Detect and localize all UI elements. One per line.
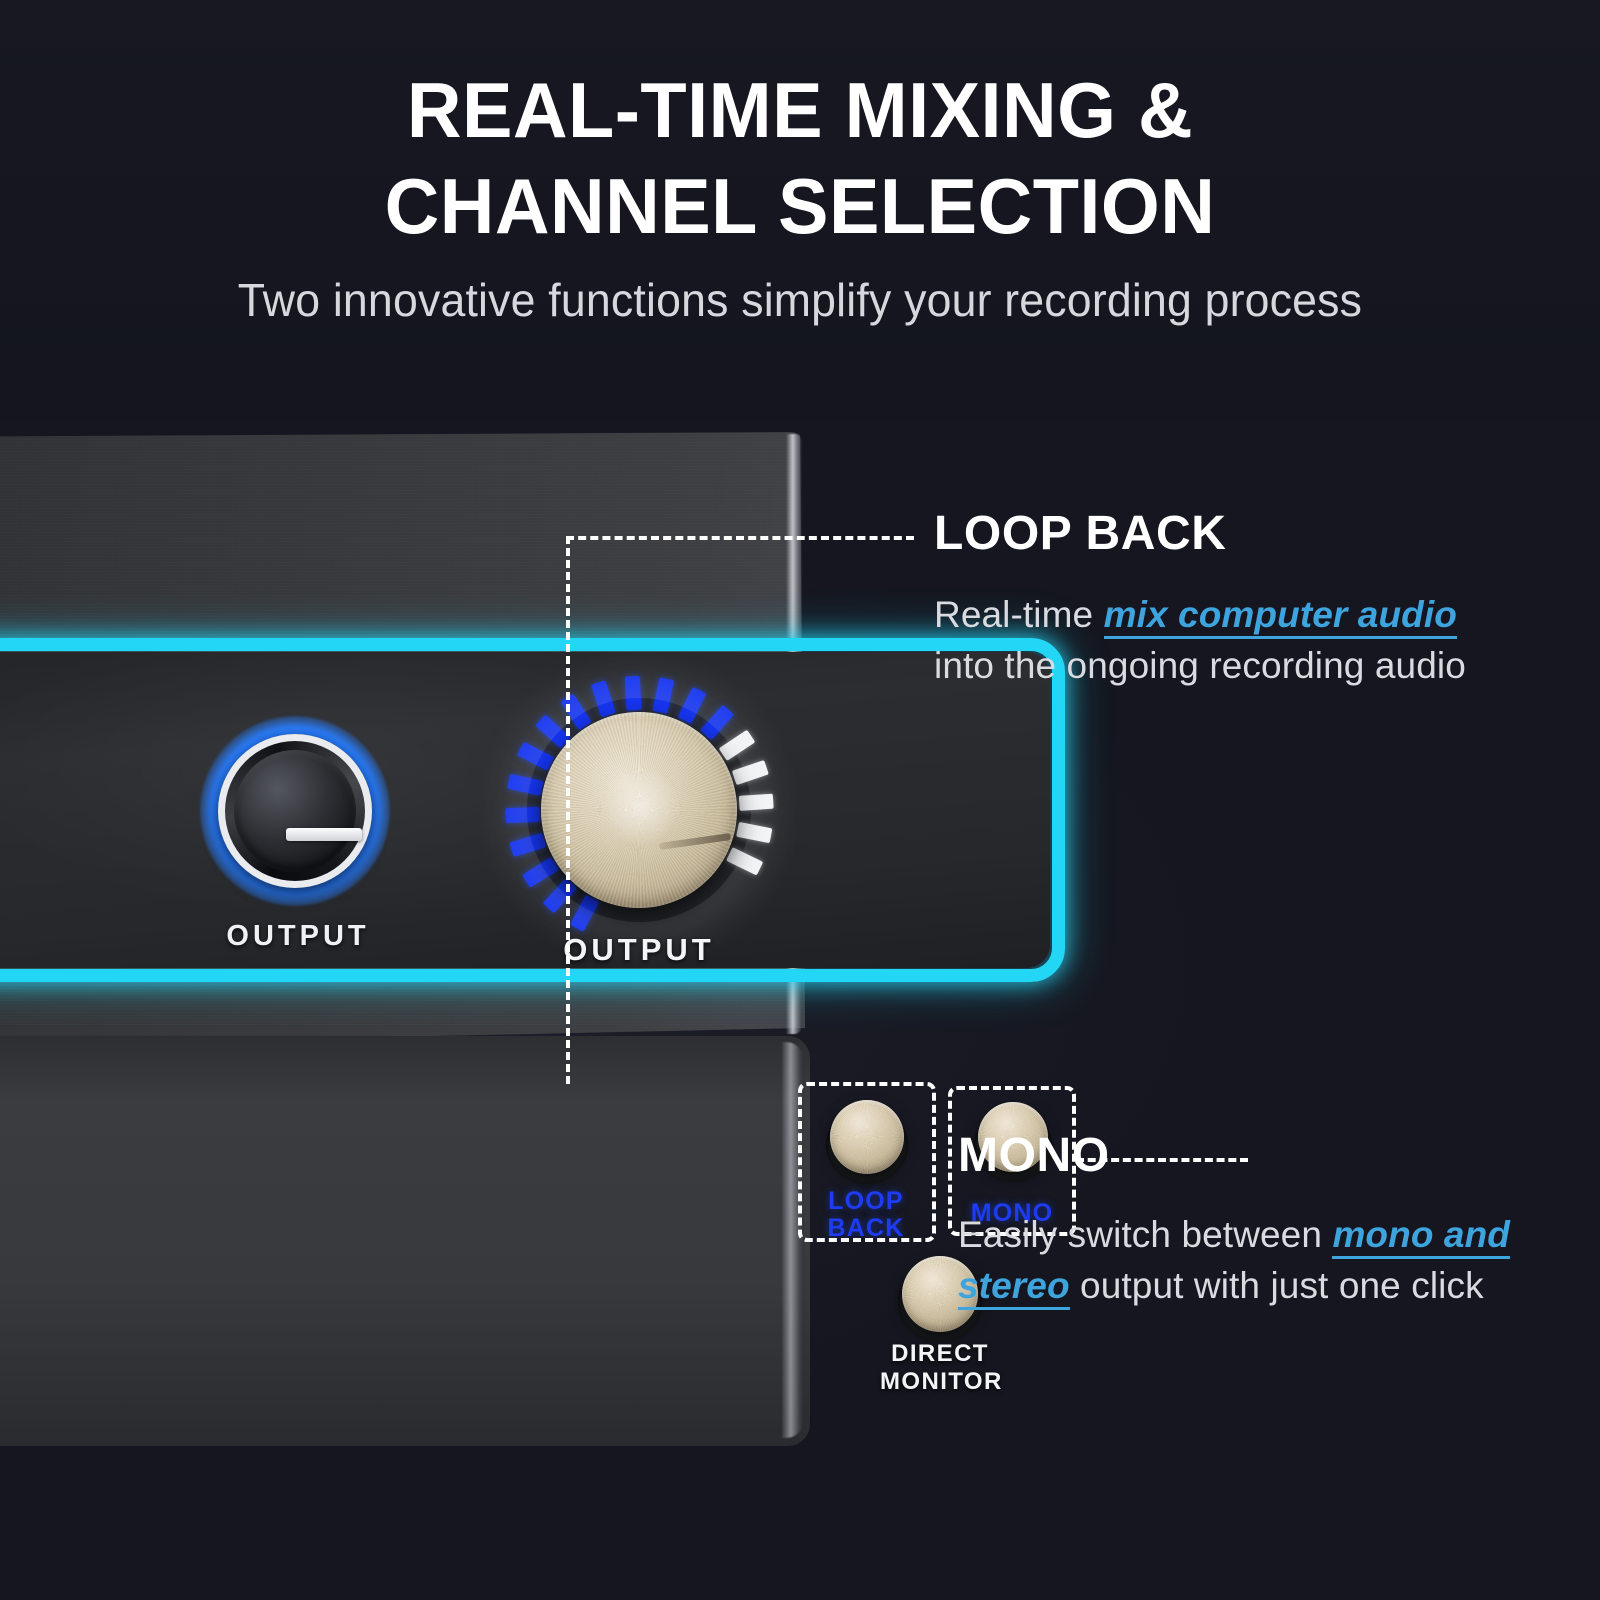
header-band: REAL-TIME MIXING & CHANNEL SELECTION Two… (0, 0, 1600, 420)
marketing-slide: REAL-TIME MIXING & CHANNEL SELECTION Two… (0, 0, 1600, 1600)
page-title: REAL-TIME MIXING & CHANNEL SELECTION (24, 62, 1576, 254)
output-knob-cap (541, 712, 737, 908)
headline-line-1: REAL-TIME MIXING & (24, 62, 1576, 158)
callout-loopback-title: LOOP BACK (934, 506, 1494, 561)
direct-monitor-label: DIRECT MONITOR (880, 1340, 1000, 1396)
callout-mono-text-pre: Easily switch between (958, 1214, 1332, 1255)
page-subtitle: Two innovative functions simplify your r… (24, 272, 1576, 328)
callout-mono-title: MONO (958, 1128, 1538, 1183)
left-knob-pointer (286, 828, 362, 841)
callout-loopback: LOOP BACK Real-time mix computer audio i… (934, 506, 1494, 691)
callout-loopback-highlight: mix computer audio (1104, 594, 1457, 639)
device-front-panel (0, 1036, 810, 1446)
loopback-leader-line-horizontal (566, 536, 914, 540)
loopback-highlight-box (798, 1082, 936, 1242)
loopback-leader-line-vertical (566, 536, 570, 1084)
callout-mono: MONO Easily switch between mono and ster… (958, 1128, 1538, 1311)
left-knob-face (234, 750, 356, 872)
headline-line-2: CHANNEL SELECTION (24, 158, 1576, 254)
main-knob-label: OUTPUT (505, 932, 773, 968)
callout-loopback-body: Real-time mix computer audio into the on… (934, 589, 1494, 691)
callout-loopback-text-pre: Real-time (934, 594, 1104, 635)
callout-loopback-text-post: into the ongoing recording audio (934, 645, 1466, 686)
output-knob-indicator (659, 833, 731, 850)
callout-mono-body: Easily switch between mono and stereo ou… (958, 1209, 1538, 1311)
left-knob-label: OUTPUT (198, 920, 398, 953)
callout-mono-text-post: output with just one click (1070, 1265, 1484, 1306)
main-output-knob[interactable] (505, 676, 773, 944)
left-output-knob[interactable] (200, 716, 390, 906)
